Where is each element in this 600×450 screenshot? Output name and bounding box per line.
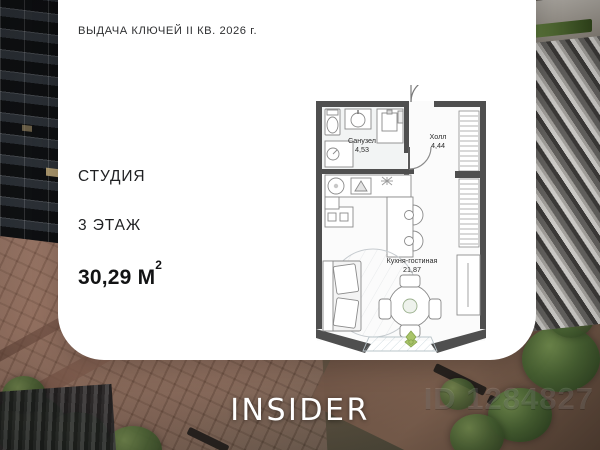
- room-label-kitchen-living: Кухня-гостиная: [387, 256, 438, 265]
- room-label-hall: Холл: [430, 132, 447, 141]
- keys-handover-date: ВЫДАЧА КЛЮЧЕЙ II КВ. 2026 г.: [78, 25, 257, 37]
- floor-plan: Санузел 4,53 Холл 4,44 Кухня-гостиная 21…: [299, 85, 504, 360]
- apartment-area-value: 30,29 М: [78, 266, 155, 289]
- window-right-lower: [459, 179, 479, 247]
- apartment-floor: 3 ЭТАЖ: [78, 217, 162, 235]
- apartment-area-superscript: 2: [155, 258, 162, 272]
- screenshot-root: ID 1284827 ВЫДАЧА КЛЮЧЕЙ II КВ. 2026 г. …: [0, 0, 600, 450]
- window-right-upper: [459, 111, 479, 171]
- brand-logo: INSIDER: [0, 393, 600, 428]
- apartment-area: 30,29 М2: [78, 265, 162, 290]
- room-label-bathroom: Санузел: [348, 136, 376, 145]
- room-area-bathroom: 4,53: [355, 145, 369, 154]
- entry-door: [411, 85, 435, 102]
- wardrobe-right: [457, 255, 480, 315]
- room-area-hall: 4,44: [431, 141, 445, 150]
- info-card: ВЫДАЧА КЛЮЧЕЙ II КВ. 2026 г. СТУДИЯ 3 ЭТ…: [58, 0, 536, 360]
- room-area-kitchen-living: 21,87: [403, 265, 421, 274]
- wall-pier-right: [455, 171, 481, 178]
- apartment-type: СТУДИЯ: [78, 168, 162, 186]
- apartment-info: СТУДИЯ 3 ЭТАЖ 30,29 М2: [78, 168, 162, 290]
